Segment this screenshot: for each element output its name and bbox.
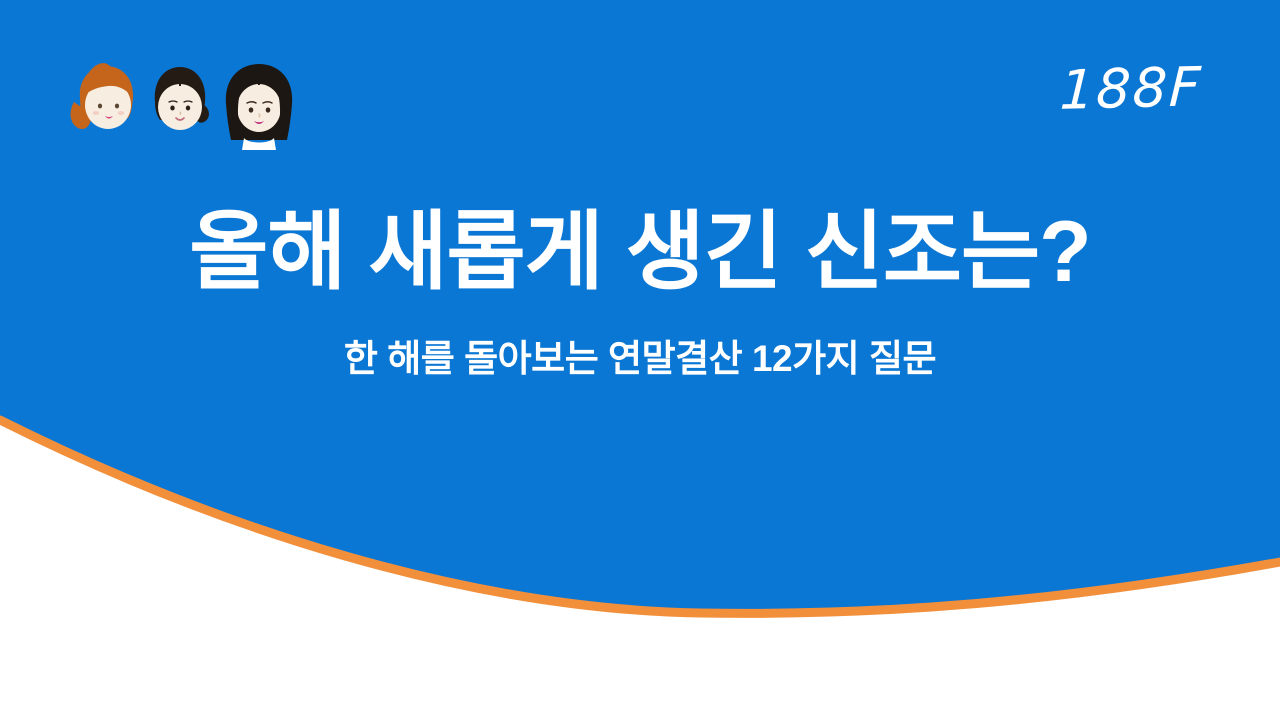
- avatar-girl-center-part: [144, 58, 216, 150]
- slide-canvas: 188F: [0, 0, 1280, 720]
- page-subtitle: 한 해를 돌아보는 연말결산 12가지 질문: [0, 299, 1280, 381]
- avatar-group: [68, 58, 318, 168]
- page-title: 올해 새롭게 생긴 신조는?: [0, 206, 1280, 299]
- avatar-girl-orange-hair: [68, 58, 142, 150]
- headline-block: 올해 새롭게 생긴 신조는? 한 해를 돌아보는 연말결산 12가지 질문: [0, 206, 1280, 381]
- brand-logo: 188F: [1059, 60, 1204, 118]
- avatar-woman-long-hair: [216, 58, 302, 154]
